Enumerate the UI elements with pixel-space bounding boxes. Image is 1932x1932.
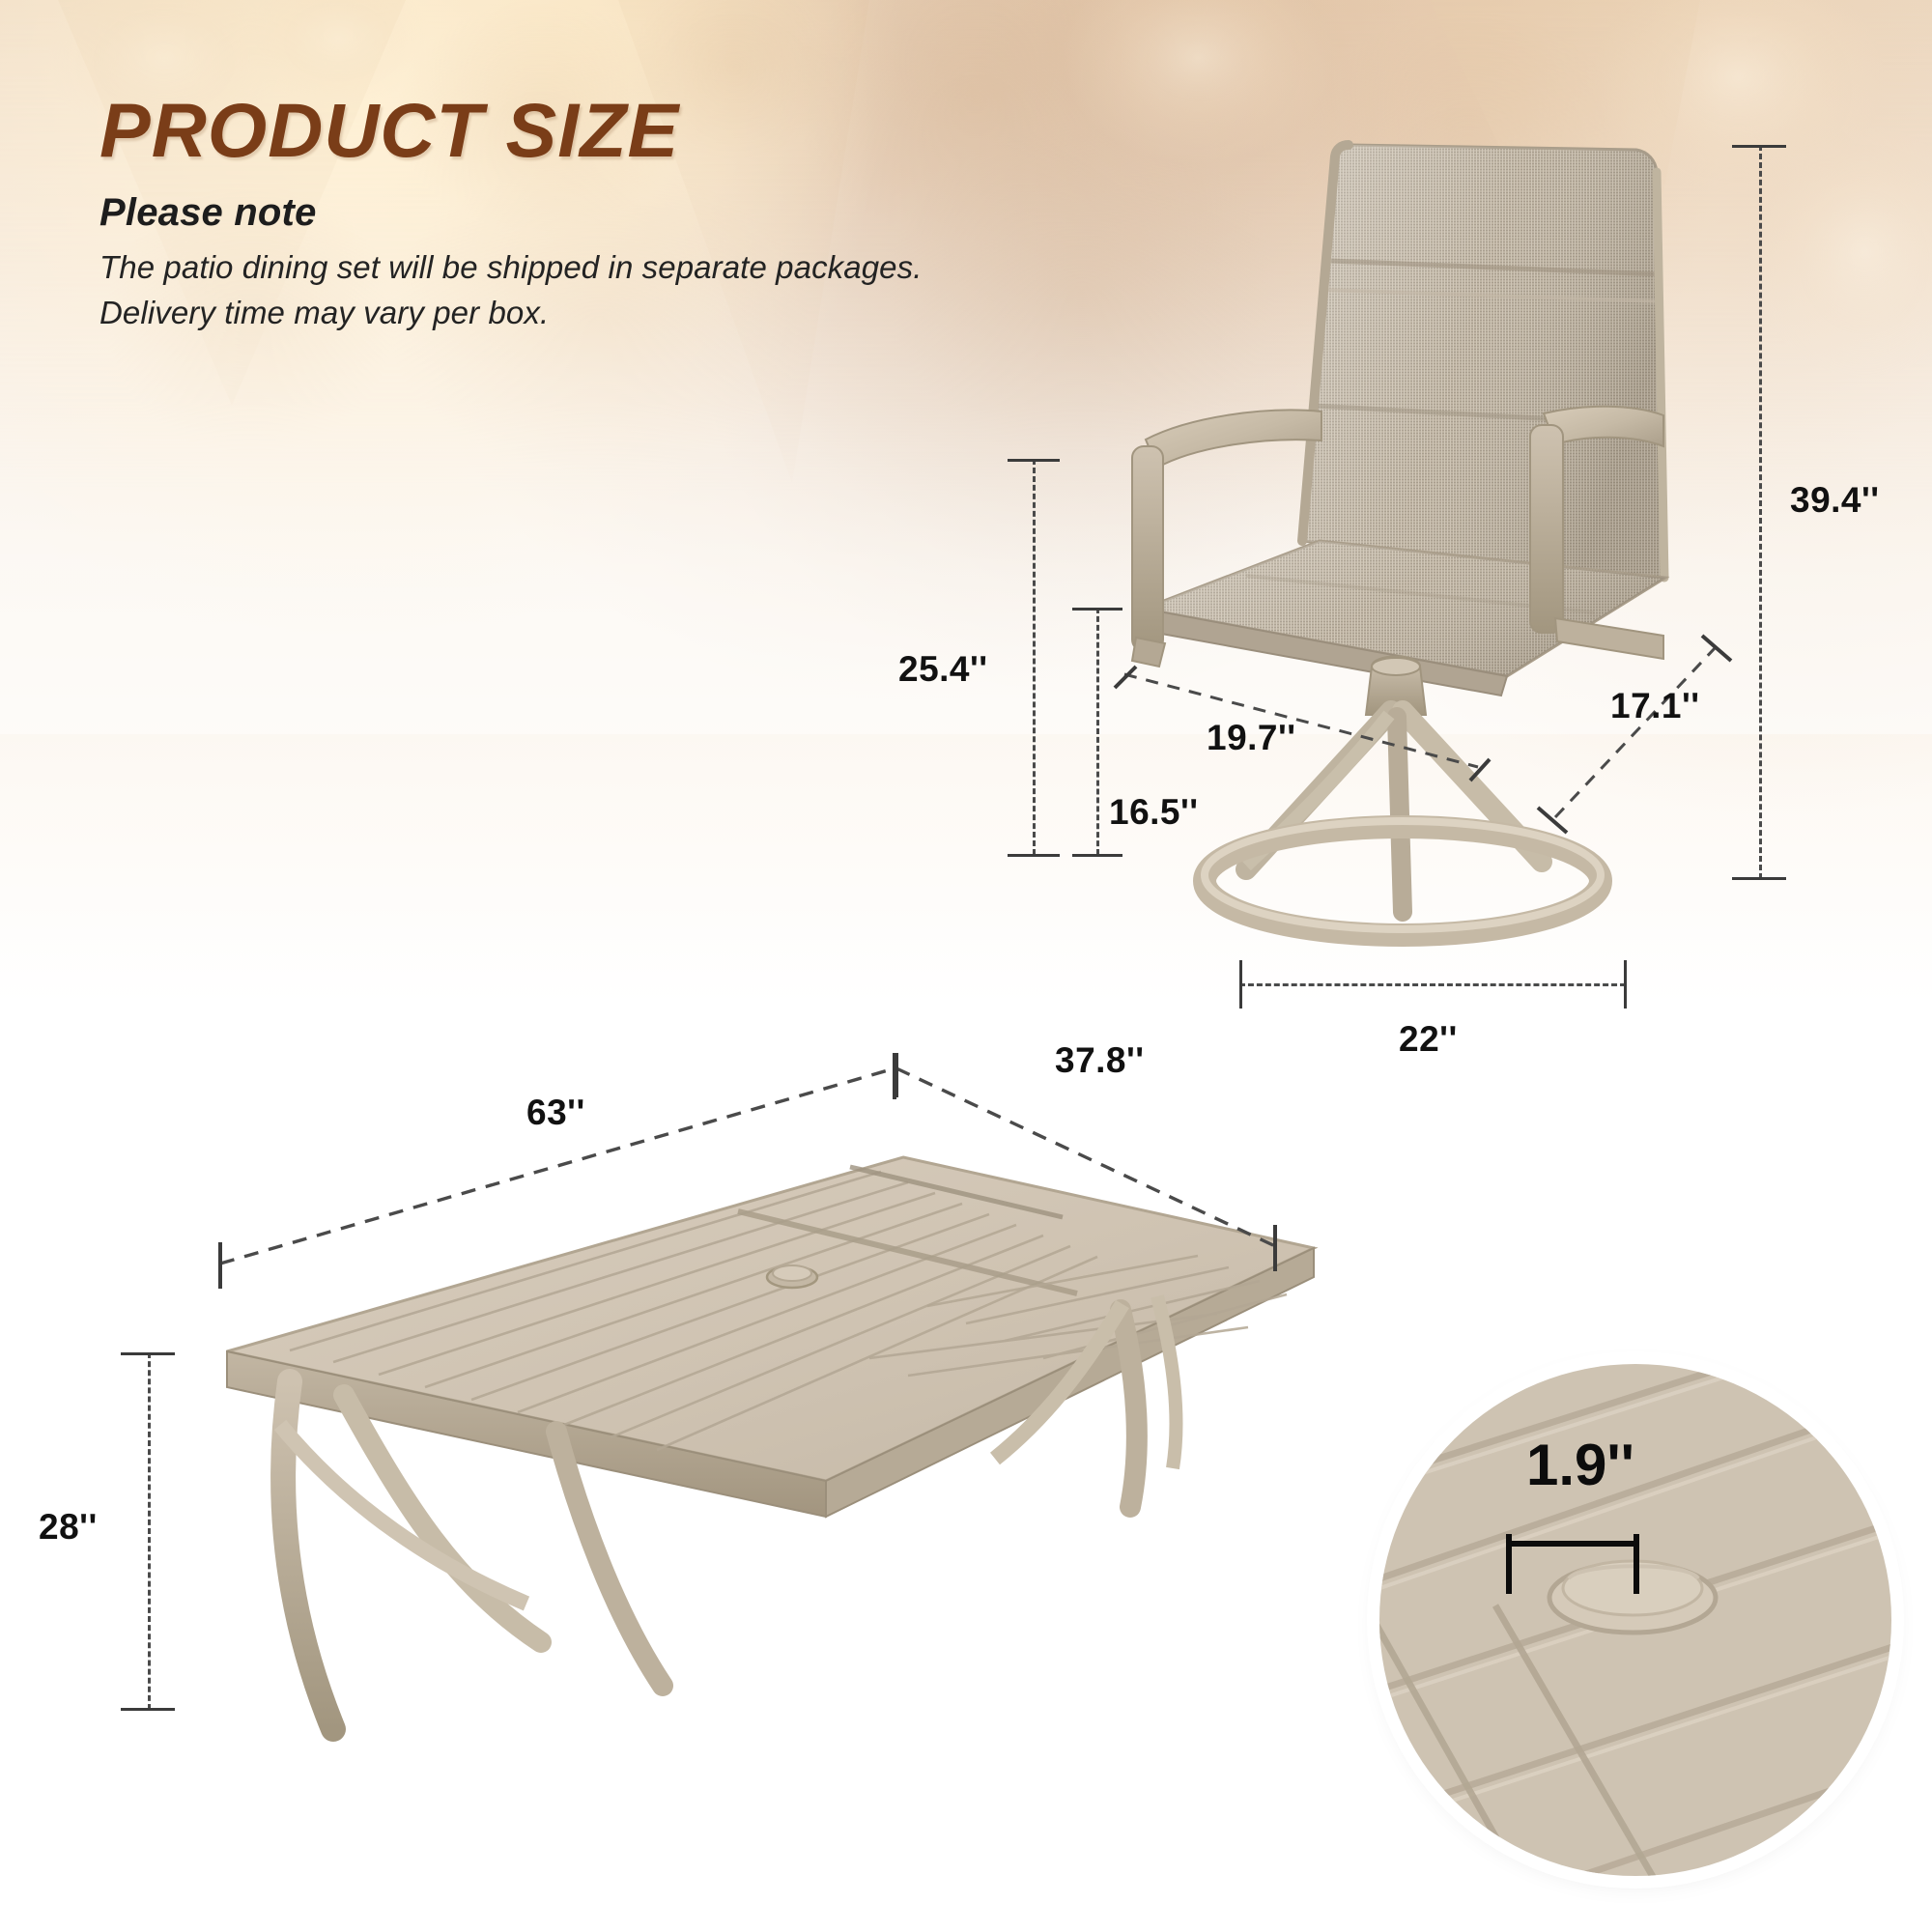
guide-table-width xyxy=(889,1053,1304,1275)
guide-chair-seat-height xyxy=(1096,608,1099,855)
dim-table-length: 63'' xyxy=(526,1093,585,1133)
tick-chair-base-right xyxy=(1624,960,1627,1009)
tick-table-height-bottom xyxy=(121,1708,175,1711)
tick-chair-overall-bottom xyxy=(1732,877,1786,880)
dim-table-width: 37.8'' xyxy=(1055,1040,1145,1081)
tick-table-height-top xyxy=(121,1352,175,1355)
tick-chair-base-left xyxy=(1239,960,1242,1009)
dim-chair-back-height: 25.4'' xyxy=(898,649,988,690)
guide-chair-base-width xyxy=(1239,983,1626,986)
tick-chair-back-top xyxy=(1008,459,1060,462)
tick-chair-seat-top xyxy=(1072,608,1122,611)
tick-chair-back-bottom xyxy=(1008,854,1060,857)
guide-table-height xyxy=(148,1352,151,1710)
inset-artwork xyxy=(1379,1364,1891,1876)
dim-chair-seat-depth: 17.1'' xyxy=(1610,686,1700,726)
dim-chair-base-width: 22'' xyxy=(1399,1019,1458,1060)
dim-umbrella-hole-diameter: 1.9'' xyxy=(1526,1432,1634,1498)
tick-chair-seat-bottom xyxy=(1072,854,1122,857)
guide-chair-seat-depth xyxy=(1536,618,1797,840)
dim-table-height: 28'' xyxy=(39,1507,98,1548)
chair-backrest xyxy=(1302,145,1664,578)
tick-chair-overall-top xyxy=(1732,145,1786,148)
guide-chair-seat-width xyxy=(1111,667,1497,802)
guide-chair-back-height xyxy=(1033,459,1036,855)
dim-chair-overall-height: 39.4'' xyxy=(1790,480,1880,521)
umbrella-hole-inset xyxy=(1379,1364,1891,1876)
guide-table-length xyxy=(203,1053,927,1294)
dim-chair-seat-width: 19.7'' xyxy=(1207,718,1296,758)
